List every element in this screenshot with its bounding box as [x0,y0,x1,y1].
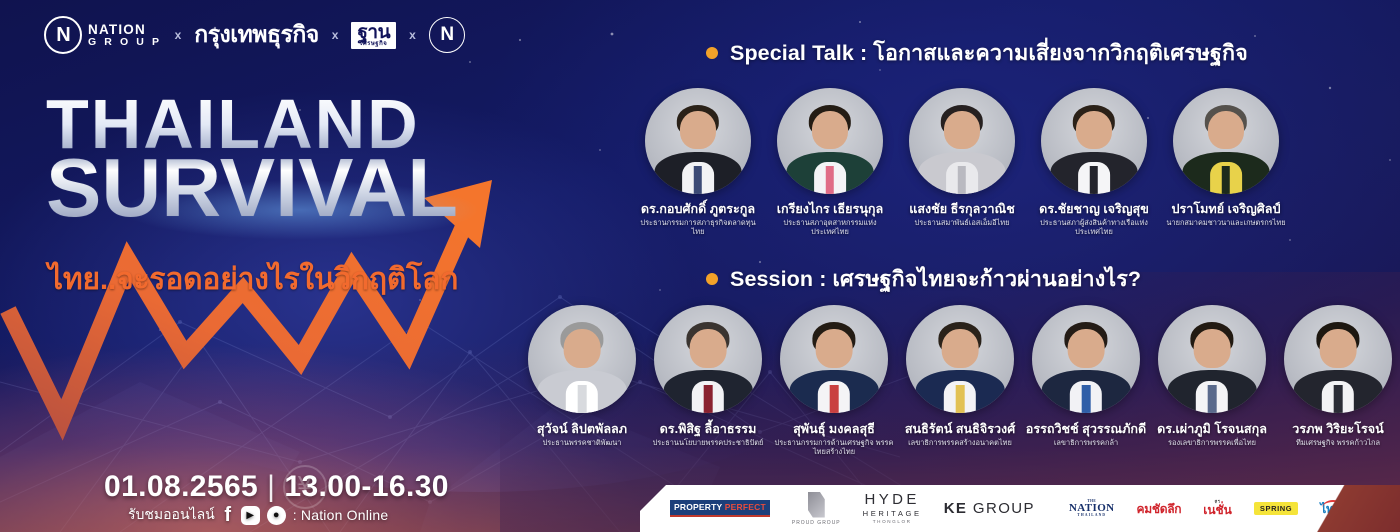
thansettakij-sub: เศรษฐกิจ [360,41,387,47]
sponsor-spring: SPRING [1254,502,1298,516]
speaker-avatar [1284,305,1392,413]
nation-bottom: THAILAND [1077,514,1106,518]
speaker-card: สุพันธุ์ มงคลสุธีประธานกรรมการด้านเศรษฐก… [772,305,896,457]
youtube-icon[interactable]: ▶ [241,506,260,525]
page-subtitle: ไทย..จะรอดอย่างไรในวิกฤติโลก [48,256,458,303]
speaker-role: รองเลขาธิการพรรคเพื่อไทย [1168,439,1256,448]
speaker-avatar [1041,88,1147,194]
sponsor-ke-group: KE GROUP [944,501,1035,516]
speaker-card: ดร.เผ่าภูมิ โรจนสกุลรองเลขาธิการพรรคเพื่… [1150,305,1274,457]
speaker-role: ประธานพรรคชาติพัฒนา [543,439,622,448]
event-time: 13.00-16.30 [284,470,449,504]
sponsor-komchadluek: คมชัดลึก [1137,503,1182,515]
speaker-avatar [1032,305,1140,413]
datetime-separator: | [267,470,275,504]
logo-krungthep-turakij: กรุงเทพธุรกิจ [194,17,319,53]
speaker-role: ประธานกรรมการด้านเศรษฐกิจ พรรคไทยสร้างไท… [772,439,896,456]
nation-mark-icon: N [44,16,82,54]
sponsor-nationtv: ทีวี เนชั่น [1203,501,1232,517]
speaker-role: ประธานสมาพันธ์เอสเอ็มอีไทย [915,219,1010,228]
speaker-name: ดร.พิสิฐ ลี้อาธรรม [660,422,757,436]
speaker-name: แสงชัย ธีรกุลวาณิช [909,202,1015,216]
watch-online-line: รับชมออนไลน์ f ▶ ● : Nation Online [128,504,388,526]
hyde-line3: THONGLOR [873,520,912,525]
logo-separator-1: x [175,28,182,42]
nation-word-bottom: G R O U P [88,37,162,48]
speaker-role: ประธานนโยบายพรรคประชาธิปัตย์ [653,439,764,448]
sponsor-the-nation: THE NATION THAILAND [1069,500,1115,517]
speaker-role: นายกสมาคมชาวนาและเกษตรกรไทย [1166,219,1285,228]
title-line-2: SURVIVAL [46,150,566,226]
logo-thansettakij: ฐาน เศรษฐกิจ [351,22,396,49]
session-speaker-row: สุวัจน์ ลิปตพัลลภประธานพรรคชาติพัฒนาดร.พ… [520,305,1400,457]
speaker-name: อรรถวิชช์ สุวรรณภักดี [1026,422,1146,436]
ke-bold: KE [944,500,968,517]
speaker-card: ปราโมทย์ เจริญศิลป์นายกสมาคมชาวนาและเกษต… [1164,88,1288,237]
hyde-line2: HERITAGE [863,510,922,518]
speaker-card: วรภพ วิริยะโรจน์ทีมเศรษฐกิจ พรรคก้าวไกล [1276,305,1400,457]
logo-separator-3: x [409,28,416,42]
speaker-avatar [780,305,888,413]
hyde-line1: HYDE [865,492,920,507]
spring-label: SPRING [1254,502,1298,516]
speaker-card: ดร.ชัยชาญ เจริญสุขประธานสภาผู้ส่งสินค้าท… [1032,88,1156,237]
logo-nation-group: N NATION G R O U P [44,16,162,54]
speaker-card: สนธิรัตน์ สนธิจิรวงศ์เลขาธิการพรรคสร้างอ… [898,305,1022,457]
speaker-card: แสงชัย ธีรกุลวาณิชประธานสมาพันธ์เอสเอ็มอ… [900,88,1024,237]
sponsor-hyde-heritage: HYDE HERITAGE THONGLOR [863,492,922,524]
nation-circle-letter: N [440,24,453,46]
speaker-card: ดร.กอบศักดิ์ ภูตระกูลประธานกรรมการสภาธุร… [636,88,760,237]
facebook-icon[interactable]: f [222,506,234,525]
proud-mark-icon [808,492,825,518]
speaker-avatar [909,88,1015,194]
speaker-avatar [1158,305,1266,413]
speaker-role: ประธานกรรมการสภาธุรกิจตลาดทุนไทย [636,219,760,236]
event-date: 01.08.2565 [104,470,258,504]
bullet-dot-icon [706,47,718,59]
speaker-role: เลขาธิการพรรคสร้างอนาคตไทย [908,439,1012,448]
ke-light: GROUP [973,500,1035,517]
speaker-role: ประธานสภาผู้ส่งสินค้าทางเรือแห่งประเทศไท… [1032,219,1156,236]
speaker-avatar [528,305,636,413]
speaker-card: สุวัจน์ ลิปตพัลลภประธานพรรคชาติพัฒนา [520,305,644,457]
speaker-name: สุวัจน์ ลิปตพัลลภ [537,422,627,436]
sponsor-property-perfect: PROPERTY PERFECT [670,500,770,517]
speaker-avatar [777,88,883,194]
speaker-name: ปราโมทย์ เจริญศิลป์ [1172,202,1281,216]
channel-name: : Nation Online [293,507,389,523]
speaker-avatar [645,88,751,194]
partner-logo-bar: N NATION G R O U P x กรุงเทพธุรกิจ x ฐาน… [44,16,465,54]
speaker-role: เลขาธิการพรรคกล้า [1054,439,1118,448]
nationtv-main: เนชั่น [1203,504,1232,516]
pp-line1: PROPERTY [674,502,722,512]
event-datetime: 01.08.2565 | 13.00-16.30 [104,470,449,504]
nation-main: NATION [1069,503,1115,514]
watch-online-label: รับชมออนไลน์ [128,504,215,526]
speaker-card: เกรียงไกร เธียรนุกุลประธานสภาอุตสาหกรรมแ… [768,88,892,237]
sponsor-proud-group: PROUD GROUP [792,492,841,526]
nation-mark-letter: N [56,24,69,47]
speaker-name: สุพันธุ์ มงคลสุธี [793,422,875,436]
speaker-role: ทีมเศรษฐกิจ พรรคก้าวไกล [1296,439,1380,448]
speaker-name: เกรียงไกร เธียรนุกุล [777,202,884,216]
speaker-card: ดร.พิสิฐ ลี้อาธรรมประธานนโยบายพรรคประชาธ… [646,305,770,457]
thansettakij-main: ฐาน [357,23,390,42]
section-label-special-talk: Special Talk : โอกาสและความเสี่ยงจากวิกฤ… [730,36,1248,70]
speaker-card: อรรถวิชช์ สุวรรณภักดีเลขาธิการพรรคกล้า [1024,305,1148,457]
sponsor-bar: PROPERTY PERFECT PROUD GROUP HYDE HERITA… [640,485,1400,532]
speaker-avatar [654,305,762,413]
section-heading-special-talk: Special Talk : โอกาสและความเสี่ยงจากวิกฤ… [706,36,1248,70]
speaker-name: ดร.กอบศักดิ์ ภูตระกูล [641,202,755,216]
speaker-avatar [1173,88,1279,194]
speaker-name: ดร.เผ่าภูมิ โรจนสกุล [1157,422,1267,436]
speaker-name: สนธิรัตน์ สนธิจิรวงศ์ [905,422,1015,436]
pp-line2: PERFECT [725,502,766,512]
logo-nation-circle: N [429,17,465,53]
speaker-role: ประธานสภาอุตสาหกรรมแห่งประเทศไทย [768,219,892,236]
nation-word-top: NATION [88,23,162,37]
section-heading-session: Session : เศรษฐกิจไทยจะก้าวผ่านอย่างไร? [706,262,1141,296]
speaker-avatar [906,305,1014,413]
line-icon[interactable]: ● [267,506,286,525]
proud-caption: PROUD GROUP [792,521,841,526]
poster-canvas: ¥ N NATION G R O U P x กรุงเทพธุรกิจ x ฐ… [0,0,1400,532]
speaker-name: ดร.ชัยชาญ เจริญสุข [1039,202,1149,216]
speaker-name: วรภพ วิริยะโรจน์ [1292,422,1383,436]
section-label-session: Session : เศรษฐกิจไทยจะก้าวผ่านอย่างไร? [730,262,1141,296]
page-title: THAILAND SURVIVAL [46,92,566,227]
logo-separator-2: x [332,28,339,42]
bullet-dot-icon [706,273,718,285]
sponsor-thainews: ไทยนิวส์ [1320,503,1361,515]
special-talk-speaker-row: ดร.กอบศักดิ์ ภูตระกูลประธานกรรมการสภาธุร… [636,88,1288,237]
